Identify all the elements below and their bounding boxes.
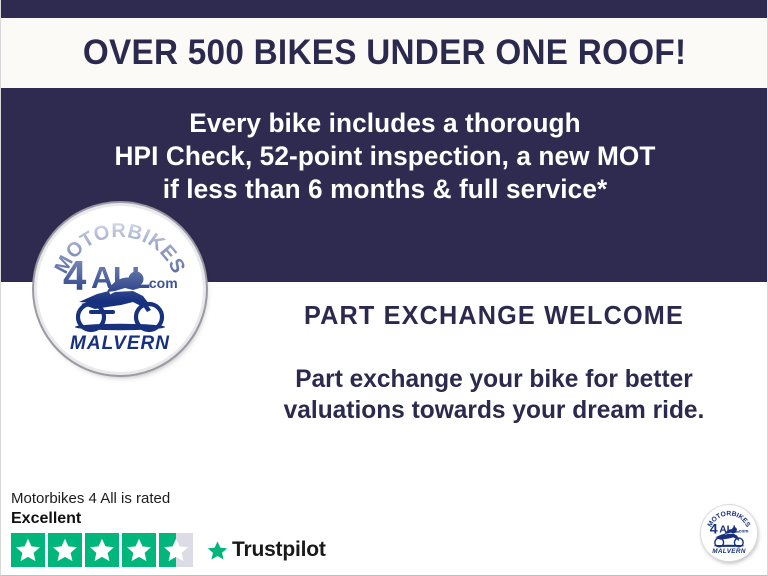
mini-logo-location-text: MALVERN [712,548,746,555]
company-logo-badge-icon: MOTORBIKES 4 ALL .com [37,206,203,372]
promo-banner: OVER 500 BIKES UNDER ONE ROOF! Every bik… [0,0,768,576]
mini-logo-numeral: 4 [710,521,718,537]
trustpilot-star-1 [11,533,45,567]
headline-text: OVER 500 BIKES UNDER ONE ROOF! [83,33,686,73]
company-logo-badge: MOTORBIKES 4 ALL .com [37,206,203,372]
part-exchange-heading: PART EXCHANGE WELCOME [237,300,751,331]
trustpilot-stars [11,533,193,567]
part-exchange-body-line-2: valuations towards your dream ride. [234,395,753,426]
headline-band: OVER 500 BIKES UNDER ONE ROOF! [1,18,768,88]
trustpilot-star-5-half [159,533,193,567]
star-icon [126,537,152,563]
company-logo-small: MOTORBIKES 4 ALL .com MALVERN [701,505,757,561]
company-logo-badge-small-icon: MOTORBIKES 4 ALL .com MALVERN [701,505,757,561]
trustpilot-star-icon [207,540,228,561]
feature-line-2: HPI Check, 52-point inspection, a new MO… [13,140,758,173]
logo-location-text: MALVERN [70,333,170,354]
feature-line-3: if less than 6 months & full service* [13,173,758,206]
mini-logo-domain-text: .com [737,530,748,535]
trustpilot-star-3 [85,533,119,567]
logo-numeral: 4 [63,252,87,299]
trustpilot-star-4 [122,533,156,567]
trustpilot-widget[interactable]: Motorbikes 4 All is rated Excellent [11,490,321,567]
star-icon [163,537,189,563]
star-icon [52,537,78,563]
trustpilot-star-2 [48,533,82,567]
trustpilot-rated-label: Motorbikes 4 All is rated [11,490,321,508]
star-icon [15,537,41,563]
trustpilot-rating-row: Trustpilot [11,533,321,567]
part-exchange-body: Part exchange your bike for better valua… [229,364,759,426]
trustpilot-brand[interactable]: Trustpilot [207,538,326,562]
top-accent-rule [1,0,768,18]
part-exchange-body-line-1: Part exchange your bike for better [234,364,753,395]
trustpilot-brand-name: Trustpilot [232,538,326,562]
feature-line-1: Every bike includes a thorough [13,107,758,140]
features-text-group: Every bike includes a thorough HPI Check… [1,107,768,206]
star-icon [89,537,115,563]
logo-domain-text: .com [145,275,178,291]
trustpilot-grade-label: Excellent [11,509,321,529]
